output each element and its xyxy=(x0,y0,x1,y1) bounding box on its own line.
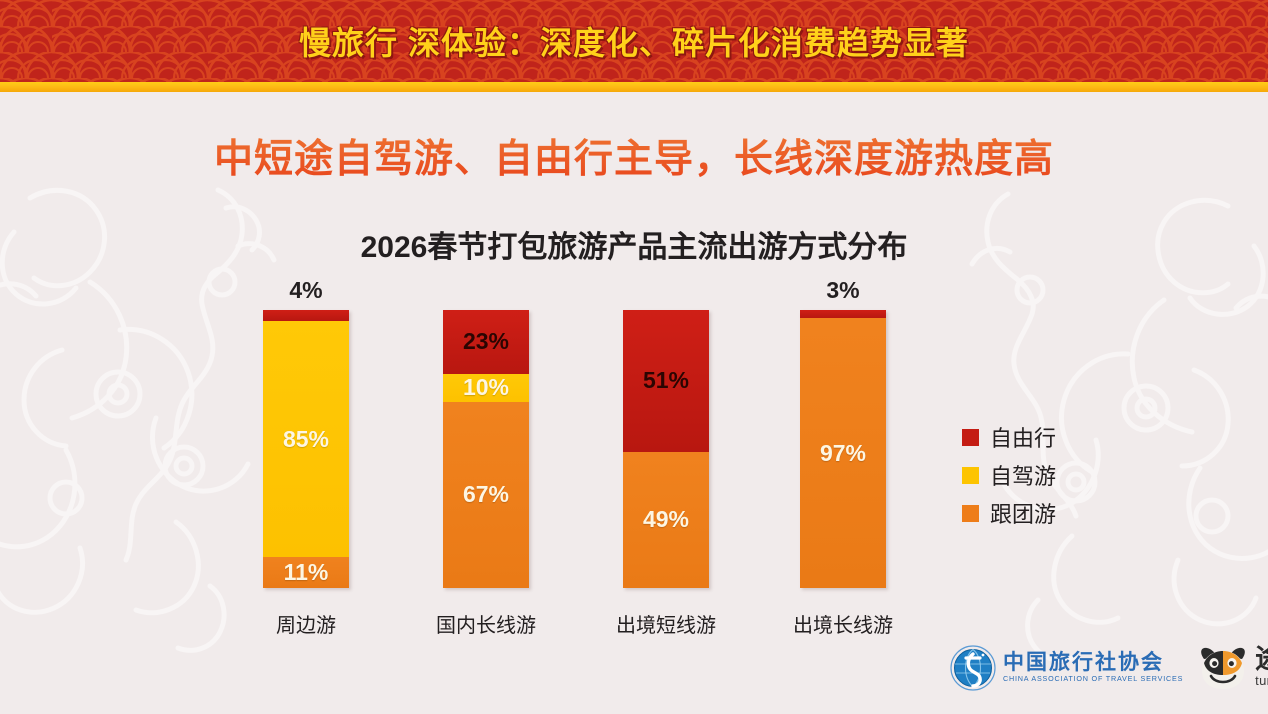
segment-value-label: 51% xyxy=(643,369,689,392)
legend-label: 自驾游 xyxy=(990,459,1056,491)
segment-value-label: 67% xyxy=(463,483,509,506)
legend-item-跟团游[interactable]: 跟团游 xyxy=(962,494,1056,532)
bar-segment-自驾游: 85% xyxy=(263,321,349,557)
segment-value-label: 85% xyxy=(283,428,329,451)
x-axis-label-出境短线游: 出境短线游 xyxy=(586,609,746,638)
bar-top-value-label: 3% xyxy=(800,277,886,304)
bar-segment-自驾游: 10% xyxy=(443,374,529,402)
bar-segment-跟团游: 97% xyxy=(800,318,886,588)
legend-item-自驾游[interactable]: 自驾游 xyxy=(962,456,1056,494)
cow-mascot-icon xyxy=(1197,645,1249,691)
bar-top-value-label: 4% xyxy=(263,277,349,304)
footer-logos: 中国旅行社协会 CHINA ASSOCIATION OF TRAVEL SERV… xyxy=(950,645,1268,691)
cats-logo[interactable]: 中国旅行社协会 CHINA ASSOCIATION OF TRAVEL SERV… xyxy=(950,645,1183,691)
x-axis-label-周边游: 周边游 xyxy=(226,609,386,638)
legend-swatch-icon xyxy=(962,467,979,484)
legend-label: 跟团游 xyxy=(990,497,1056,529)
globe-icon xyxy=(950,645,996,691)
segment-value-label: 97% xyxy=(820,442,866,465)
segment-value-label: 10% xyxy=(463,376,509,399)
segment-value-label: 11% xyxy=(284,561,329,584)
legend-item-自由行[interactable]: 自由行 xyxy=(962,418,1056,456)
tuniu-name-en: tuniu.com xyxy=(1255,673,1268,690)
chart-legend: 自由行自驾游跟团游 xyxy=(962,418,1056,532)
segment-value-label: 23% xyxy=(463,330,509,353)
bar-出境短线游: 51%49% xyxy=(623,310,709,588)
legend-label: 自由行 xyxy=(990,421,1056,453)
bar-周边游: 4%85%11% xyxy=(263,310,349,588)
bar-segment-跟团游: 49% xyxy=(623,452,709,588)
bar-国内长线游: 23%10%67% xyxy=(443,310,529,588)
bar-segment-自由行: 3% xyxy=(800,310,886,318)
bar-segment-跟团游: 67% xyxy=(443,402,529,588)
tuniu-logo[interactable]: 途牛 tuniu.com xyxy=(1197,645,1268,691)
tuniu-name-cn: 途牛 xyxy=(1255,646,1268,673)
legend-swatch-icon xyxy=(962,505,979,522)
bar-出境长线游: 3%97% xyxy=(800,310,886,588)
bar-segment-自由行: 51% xyxy=(623,310,709,452)
stacked-bar-chart: 4%85%11%4%周边游23%10%67%国内长线游51%49%出境短线游3%… xyxy=(0,0,1268,714)
x-axis-label-国内长线游: 国内长线游 xyxy=(406,609,566,638)
bar-segment-自由行: 23% xyxy=(443,310,529,374)
cats-name-en: CHINA ASSOCIATION OF TRAVEL SERVICES xyxy=(1003,674,1183,683)
slide-canvas: 慢旅行 深体验：深度化、碎片化消费趋势显著 中短途自驾游、自由行主导，长线深度游… xyxy=(0,0,1268,714)
cats-name-cn: 中国旅行社协会 xyxy=(1003,652,1183,674)
legend-swatch-icon xyxy=(962,429,979,446)
segment-value-label: 49% xyxy=(643,508,689,531)
x-axis-label-出境长线游: 出境长线游 xyxy=(763,609,923,638)
bar-segment-自由行: 4% xyxy=(263,310,349,321)
bar-segment-跟团游: 11% xyxy=(263,557,349,588)
